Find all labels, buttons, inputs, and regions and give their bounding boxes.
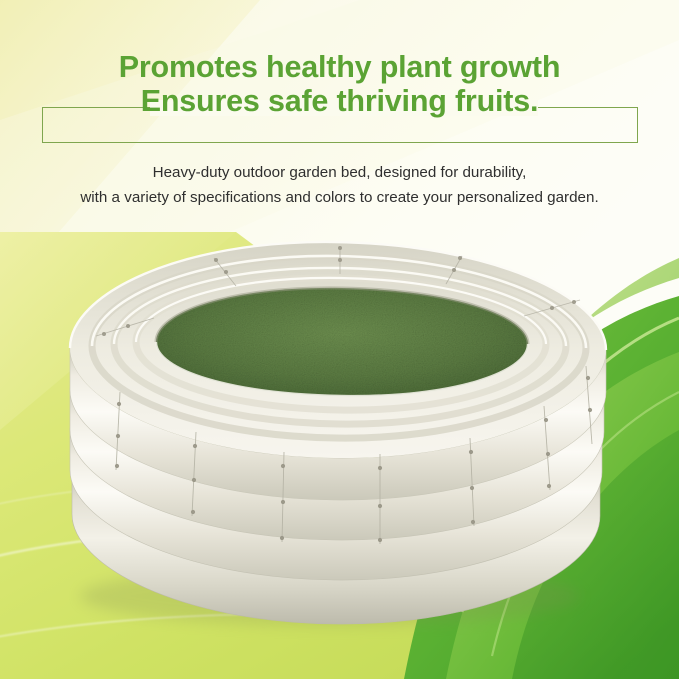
product-banner: Promotes healthy plant growth Ensures sa… bbox=[0, 0, 679, 679]
page-title: Promotes healthy plant growth Ensures sa… bbox=[0, 50, 679, 118]
product-description: Heavy-duty outdoor garden bed, designed … bbox=[0, 160, 679, 210]
garden-bed-product bbox=[70, 242, 606, 626]
